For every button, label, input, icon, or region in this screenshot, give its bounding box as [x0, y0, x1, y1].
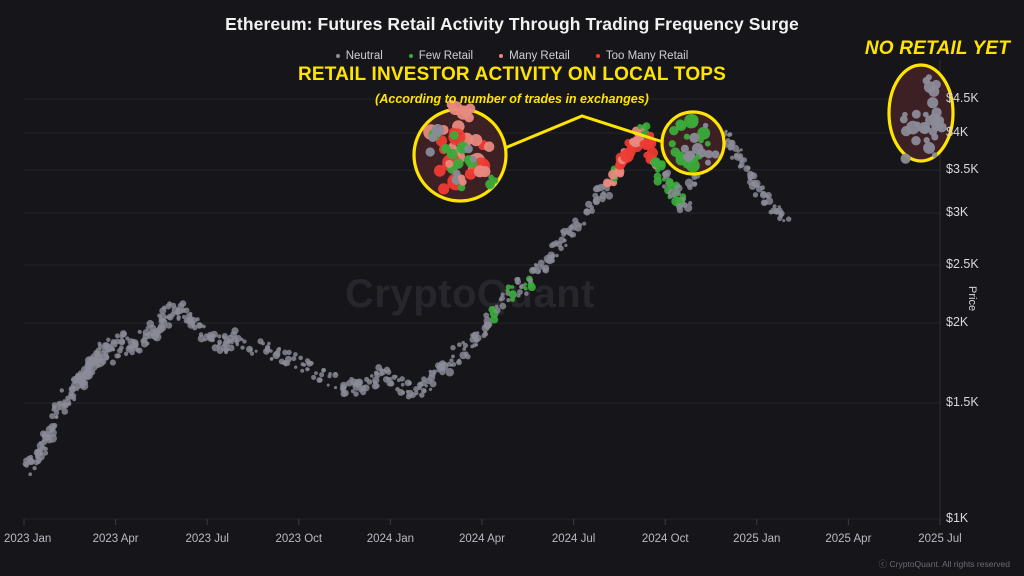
y-tick-label: $2K	[946, 315, 968, 329]
x-tick-label: 2024 Oct	[642, 533, 689, 545]
x-tick-label: 2024 Apr	[459, 533, 505, 545]
x-tick-label: 2025 Jan	[733, 533, 780, 545]
x-tick-label: 2023 Oct	[275, 533, 322, 545]
x-tick-label: 2025 Apr	[825, 533, 871, 545]
x-tick-label: 2023 Jul	[185, 533, 228, 545]
y-tick-label: $3.5K	[946, 162, 979, 176]
annotation-subtitle: (According to number of trades in exchan…	[0, 92, 1024, 106]
annotation-no-retail: NO RETAIL YET	[865, 38, 1010, 60]
y-tick-label: $3K	[946, 205, 968, 219]
y-tick-label: $1K	[946, 511, 968, 525]
x-tick-label: 2024 Jul	[552, 533, 595, 545]
y-tick-label: $4K	[946, 125, 968, 139]
x-tick-label: 2024 Jan	[367, 533, 414, 545]
y-tick-label: $1.5K	[946, 395, 979, 409]
x-tick-label: 2023 Apr	[93, 533, 139, 545]
x-tick-label: 2023 Jan	[4, 533, 51, 545]
chart-root: Ethereum: Futures Retail Activity Throug…	[0, 0, 1024, 576]
scatter-plot	[0, 0, 1024, 576]
y-tick-label: $2.5K	[946, 257, 979, 271]
y-tick-label: $4.5K	[946, 91, 979, 105]
copyright-credit: ⓒ CryptoQuant. All rights reserved	[879, 558, 1010, 570]
y-axis-title: Price	[966, 286, 978, 311]
x-tick-label: 2025 Jul	[918, 533, 961, 545]
annotation-main: RETAIL INVESTOR ACTIVITY ON LOCAL TOPS	[0, 64, 1024, 86]
